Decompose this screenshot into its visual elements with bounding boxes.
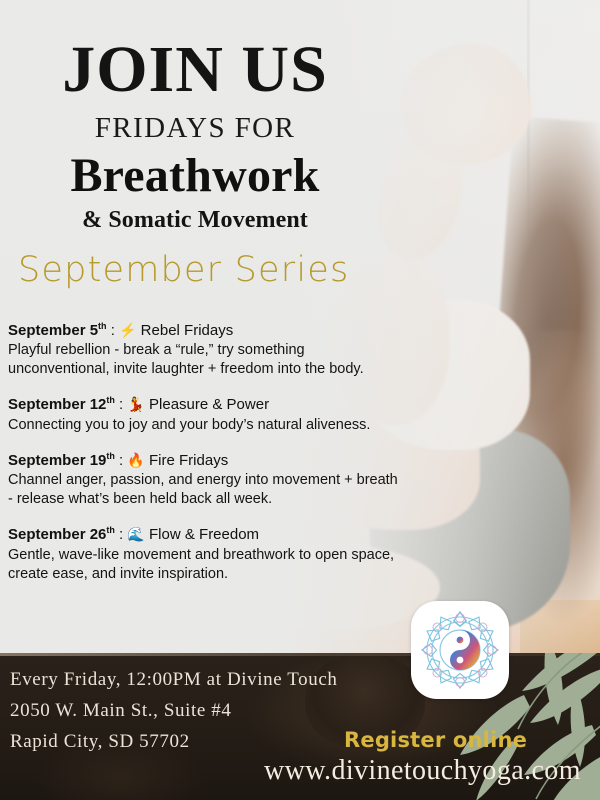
headline-breathwork: Breathwork (0, 148, 600, 203)
schedule-entry-ordinal: th (98, 321, 107, 331)
schedule-entry-title: Rebel Fridays (141, 322, 234, 339)
schedule-entry: September 19th : 🔥 Fire Fridays Channel … (8, 451, 600, 509)
headline-join-us: JOIN US (0, 38, 600, 103)
schedule-entry: September 12th : 💃 Pleasure & Power Conn… (8, 395, 600, 435)
schedule-entry-title: Flow & Freedom (149, 526, 259, 543)
schedule-entry-heading: September 12th : 💃 Pleasure & Power (8, 395, 600, 415)
schedule-entry-date-text: September 19 (8, 452, 106, 469)
lightning-bolt-icon: ⚡ (119, 322, 136, 338)
fire-icon: 🔥 (127, 452, 144, 468)
schedule-entry-date: September 5th (8, 322, 107, 339)
headline-block: JOIN US FRIDAYS FOR Breathwork & Somatic… (0, 0, 600, 234)
series-subtitle-wrap: September Series (0, 250, 600, 294)
schedule-entry-ordinal: th (106, 525, 115, 535)
schedule-entry-ordinal: th (106, 451, 115, 461)
schedule-entry-heading: September 26th : 🌊 Flow & Freedom (8, 525, 600, 545)
schedule-entry-separator: : (115, 452, 128, 469)
schedule-entry-separator: : (107, 322, 120, 339)
schedule-entry-description: Playful rebellion - break a “rule,” try … (8, 341, 600, 379)
schedule-entry: September 26th : 🌊 Flow & Freedom Gentle… (8, 525, 600, 583)
schedule-entry-separator: : (115, 396, 128, 413)
divine-touch-logo (411, 601, 509, 699)
schedule-entry-date: September 12th (8, 396, 115, 413)
wave-icon: 🌊 (127, 526, 144, 542)
yin-yang-mandala-icon (418, 608, 502, 692)
schedule-entry-separator: : (115, 526, 128, 543)
schedule-entry-heading: September 19th : 🔥 Fire Fridays (8, 451, 600, 471)
series-subtitle: September Series (18, 250, 349, 294)
schedule-entry-description: Connecting you to joy and your body’s na… (8, 416, 600, 435)
schedule-entry-date-text: September 5 (8, 322, 98, 339)
schedule-entry-description: Channel anger, passion, and energy into … (8, 471, 600, 509)
schedule-entry-date-text: September 26 (8, 526, 106, 543)
dancer-icon: 💃 (127, 396, 144, 412)
schedule-entry-title: Fire Fridays (149, 452, 228, 469)
schedule-entry-date: September 26th (8, 526, 115, 543)
website-url[interactable]: www.divinetouchyoga.com (264, 755, 581, 787)
studio-address: Every Friday, 12:00PM at Divine Touch 20… (10, 665, 337, 757)
register-online-label: Register online (344, 728, 527, 752)
schedule-entry-title: Pleasure & Power (149, 396, 269, 413)
headline-fridays-for: FRIDAYS FOR (0, 112, 600, 145)
schedule-entry: September 5th : ⚡ Rebel Fridays Playful … (8, 321, 600, 379)
flyer-canvas: JOIN US FRIDAYS FOR Breathwork & Somatic… (0, 0, 600, 800)
schedule-entry-date-text: September 12 (8, 396, 106, 413)
schedule-entry-date: September 19th (8, 452, 115, 469)
schedule-entry-ordinal: th (106, 395, 115, 405)
schedule-list: September 5th : ⚡ Rebel Fridays Playful … (0, 321, 600, 584)
schedule-entry-description: Gentle, wave-like movement and breathwor… (8, 546, 600, 584)
headline-somatic: & Somatic Movement (0, 207, 600, 234)
schedule-entry-heading: September 5th : ⚡ Rebel Fridays (8, 321, 600, 341)
